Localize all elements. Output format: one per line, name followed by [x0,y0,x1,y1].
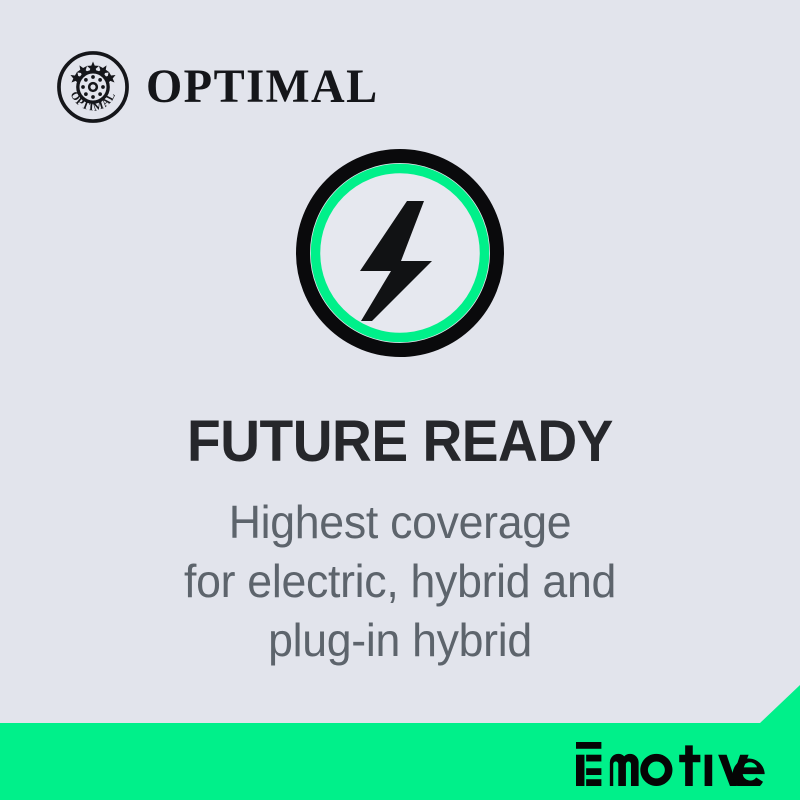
emotive-wordmark-icon [576,742,772,786]
subcopy-line-2: for electric, hybrid and [70,552,730,611]
brand-lockup: OPTIMAL OPTIMAL [56,50,386,124]
poster-canvas: OPTIMAL OPTIMAL FUTURE READY Highest cov… [0,0,800,800]
lightning-bolt-icon [296,149,504,357]
future-ready-badge [296,149,504,357]
footer-band: Emotive [0,680,800,800]
page-title: FUTURE READY [77,412,723,471]
footer-logo-text: Emotive [0,680,1,681]
copy-block: FUTURE READY Highest coverage for electr… [0,412,800,670]
brand-wordmark: OPTIMAL [146,63,379,111]
optimal-bearing-emblem-icon: OPTIMAL [56,50,130,124]
svg-text:OPTIMAL: OPTIMAL [68,90,119,114]
subcopy-line-3: plug-in hybrid [70,611,730,670]
subcopy-line-1: Highest coverage [70,493,730,552]
subcopy: Highest coverage for electric, hybrid an… [70,493,730,670]
